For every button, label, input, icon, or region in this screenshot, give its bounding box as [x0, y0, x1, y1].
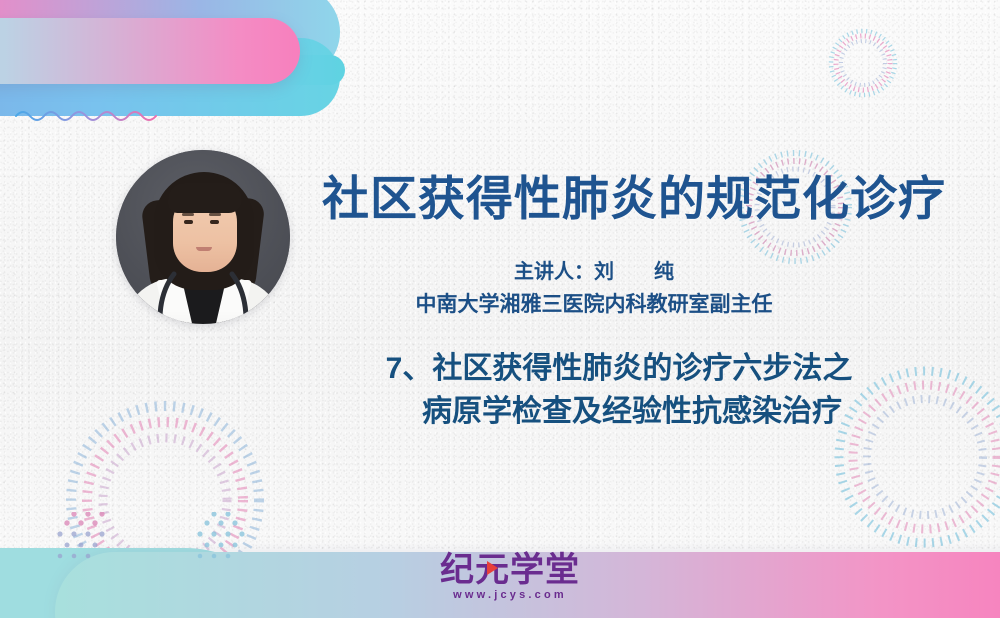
decor-pill-middle — [0, 18, 300, 84]
portrait-eye-right — [210, 220, 219, 224]
presentation-slide: 社区获得性肺炎的规范化诊疗 主讲人：刘 纯 中南大学湘雅三医院内科教研室副主任 … — [0, 0, 1000, 618]
stethoscope-icon — [116, 268, 290, 324]
play-icon — [487, 561, 498, 575]
portrait-eyebrow-right — [209, 213, 221, 216]
decor-halftone-dots-left — [52, 512, 142, 564]
portrait-eyebrow-left — [182, 213, 194, 216]
decor-wavy-line — [14, 104, 164, 126]
portrait-fringe — [168, 183, 242, 213]
brand-logo-text: 纪元学堂 — [440, 552, 580, 588]
portrait-eye-left — [184, 220, 193, 224]
decor-dotted-ring-top-right — [826, 26, 900, 100]
decor-dotted-ring-bottom-right — [820, 352, 1000, 562]
decor-dotted-ring-mid-right — [730, 142, 860, 272]
portrait-mouth — [196, 247, 212, 251]
brand-website-url: www.jcys.com — [435, 589, 585, 601]
decor-halftone-dots-right — [190, 512, 280, 564]
brand-logo[interactable]: 纪元学堂 www.jcys.com — [435, 552, 585, 612]
presenter-portrait — [116, 150, 290, 324]
